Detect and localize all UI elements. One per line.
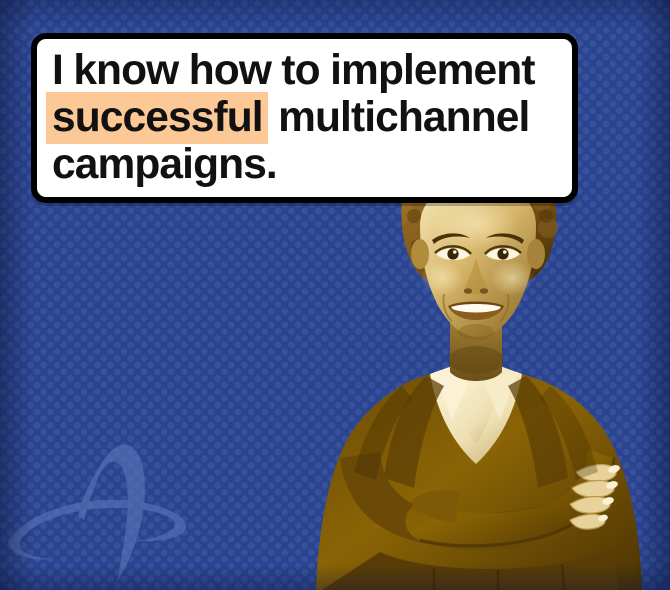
quote-callout: I know how to implement successful multi… — [31, 33, 578, 203]
quote-line-2-rest: multichannel — [268, 94, 530, 141]
highlighted-word: successful — [46, 92, 268, 144]
poster-canvas: I know how to implement successful multi… — [0, 0, 670, 590]
quote-text: I know how to implement successful multi… — [52, 47, 564, 188]
quote-line-2: successful multichannel — [52, 94, 564, 141]
quote-line-1: I know how to implement — [52, 47, 564, 94]
quote-line-3: campaigns. — [52, 141, 564, 188]
